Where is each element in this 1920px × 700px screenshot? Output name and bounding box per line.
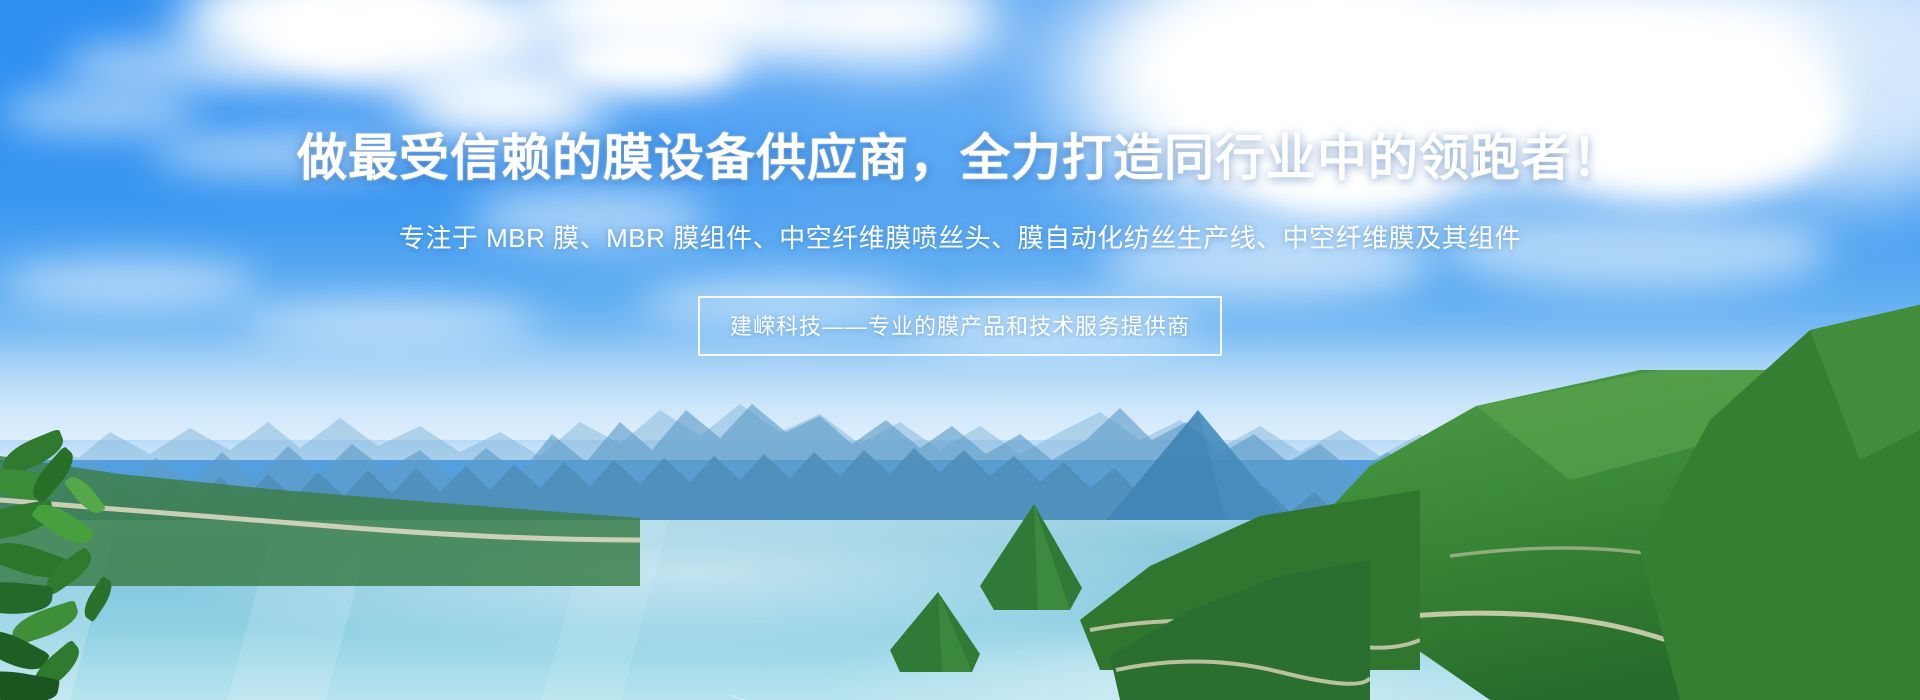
banner-headline: 做最受信赖的膜设备供应商，全力打造同行业中的领跑者！	[0, 118, 1920, 190]
hero-banner: 做最受信赖的膜设备供应商，全力打造同行业中的领跑者！ 专注于 MBR 膜、MBR…	[0, 0, 1920, 700]
banner-tagline-wrap: 建嵘科技——专业的膜产品和技术服务提供商	[0, 296, 1920, 356]
hero-text-block: 做最受信赖的膜设备供应商，全力打造同行业中的领跑者！ 专注于 MBR 膜、MBR…	[0, 0, 1920, 700]
banner-tagline: 建嵘科技——专业的膜产品和技术服务提供商	[698, 296, 1222, 356]
banner-subheadline: 专注于 MBR 膜、MBR 膜组件、中空纤维膜喷丝头、膜自动化纺丝生产线、中空纤…	[0, 218, 1920, 255]
